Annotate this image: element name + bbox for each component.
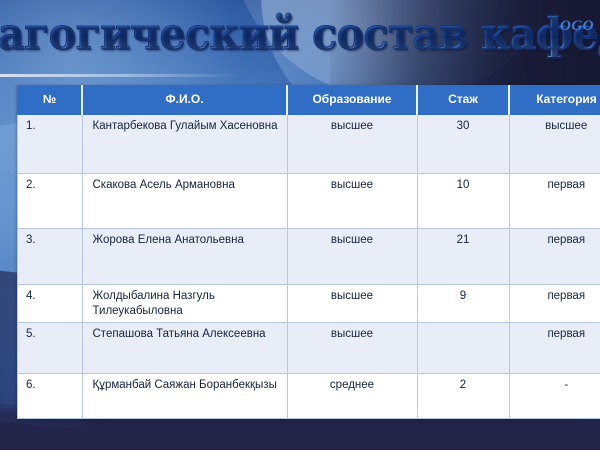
table-header: № Ф.И.О. Образование Стаж Категория [18, 86, 600, 115]
cell-education: высшее [287, 285, 417, 323]
cell-category: первая [509, 229, 600, 285]
cell-number: 3. [18, 229, 83, 285]
table-row[interactable]: 3. Жорова Елена Анатольевна высшее 21 пе… [18, 229, 600, 285]
cell-experience [417, 323, 509, 374]
staff-table: № Ф.И.О. Образование Стаж Категория 1. К… [17, 85, 600, 419]
cell-education: высшее [287, 174, 417, 229]
cell-experience: 30 [417, 115, 509, 174]
cell-fullname: Жорова Елена Анатольевна [82, 229, 287, 285]
logo-placeholder: OGO [560, 18, 594, 35]
cell-experience: 10 [417, 174, 509, 229]
horizontal-accent-line [0, 74, 240, 77]
cell-fullname: Кантарбекова Гулайым Хасеновна [82, 115, 287, 174]
table-header-row: № Ф.И.О. Образование Стаж Категория [18, 86, 600, 115]
table-row[interactable]: 1. Кантарбекова Гулайым Хасеновна высшее… [18, 115, 600, 174]
cell-category: первая [509, 174, 600, 229]
presentation-slide: Педагогический состав кафедры OGO № Ф.И.… [0, 0, 600, 450]
cell-experience: 21 [417, 229, 509, 285]
table-row[interactable]: 5. Степашова Татьяна Алексеевна высшее п… [18, 323, 600, 374]
column-header-fullname[interactable]: Ф.И.О. [82, 86, 287, 115]
cell-education: высшее [287, 323, 417, 374]
column-header-number[interactable]: № [18, 86, 83, 115]
cell-fullname: Степашова Татьяна Алексеевна [82, 323, 287, 374]
cell-fullname: Жолдыбалина Назгуль Тилеукабыловна [82, 285, 287, 323]
cell-category: первая [509, 323, 600, 374]
cell-number: 2. [18, 174, 83, 229]
column-header-category[interactable]: Категория [509, 86, 600, 115]
cell-fullname: Скакова Асель Армановна [82, 174, 287, 229]
cell-number: 6. [18, 374, 83, 419]
cell-education: среднее [287, 374, 417, 419]
table-body: 1. Кантарбекова Гулайым Хасеновна высшее… [18, 115, 600, 419]
cell-number: 1. [18, 115, 83, 174]
column-header-experience[interactable]: Стаж [417, 86, 509, 115]
cell-number: 5. [18, 323, 83, 374]
cell-number: 4. [18, 285, 83, 323]
cell-category: высшее [509, 115, 600, 174]
column-header-education[interactable]: Образование [287, 86, 417, 115]
staff-table-container: № Ф.И.О. Образование Стаж Категория 1. К… [17, 85, 578, 419]
continent-shape [0, 0, 27, 2]
cell-experience: 2 [417, 374, 509, 419]
cell-category: первая [509, 285, 600, 323]
cell-experience: 9 [417, 285, 509, 323]
cell-education: высшее [287, 229, 417, 285]
cell-category: - [509, 374, 600, 419]
table-row[interactable]: 2. Скакова Асель Армановна высшее 10 пер… [18, 174, 600, 229]
cell-education: высшее [287, 115, 417, 174]
cell-fullname: Құрманбай Саяжан Боранбекқызы [82, 374, 287, 419]
table-row[interactable]: 4. Жолдыбалина Назгуль Тилеукабыловна вы… [18, 285, 600, 323]
table-row[interactable]: 6. Құрманбай Саяжан Боранбекқызы среднее… [18, 374, 600, 419]
